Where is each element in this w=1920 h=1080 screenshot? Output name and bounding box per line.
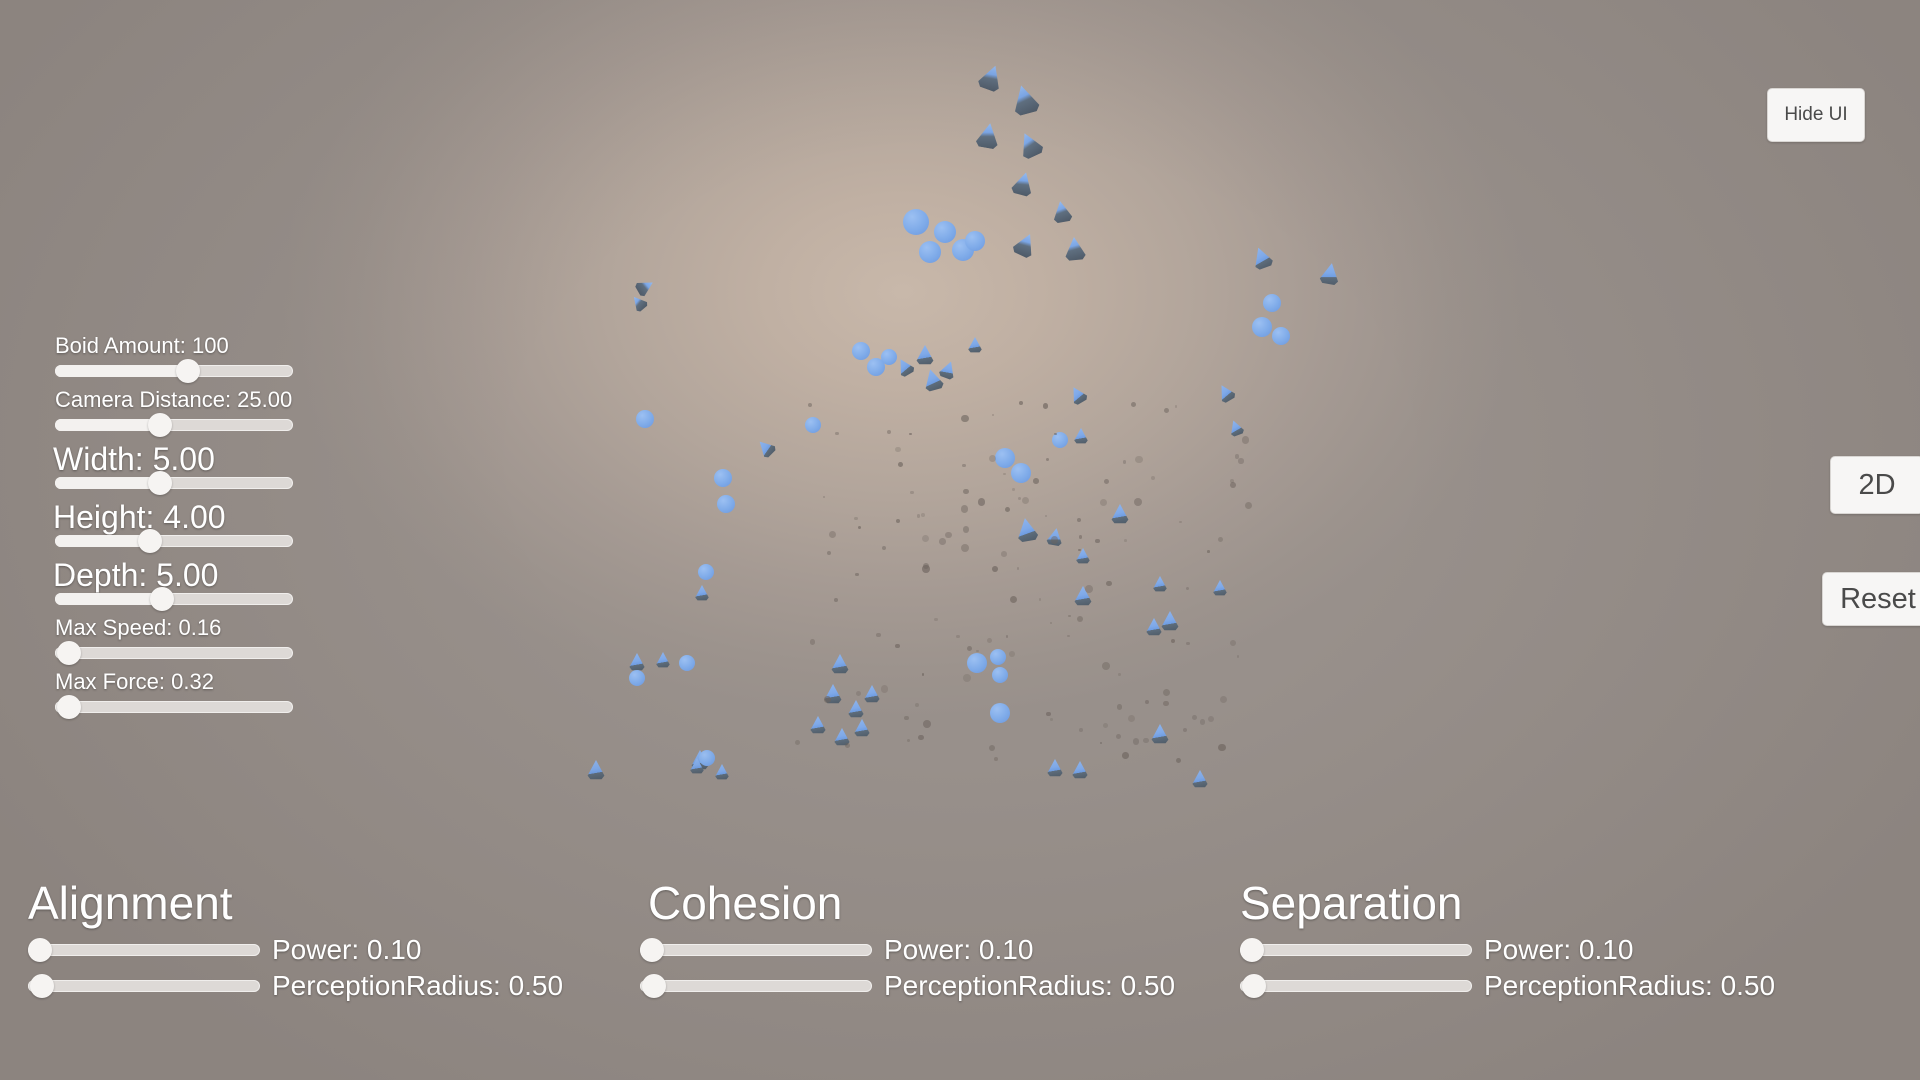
depth-particle xyxy=(962,464,965,467)
label-boid-amount: Boid Amount: 100 xyxy=(55,335,300,357)
rule-group-alignment: AlignmentPower: 0.10PerceptionRadius: 0.… xyxy=(28,880,563,1008)
slider-thumb-max-speed[interactable] xyxy=(57,641,81,665)
depth-particle xyxy=(956,635,959,638)
depth-particle xyxy=(963,489,969,495)
depth-particle xyxy=(922,673,925,676)
boid xyxy=(689,758,705,774)
depth-particle xyxy=(963,526,970,533)
depth-particle xyxy=(1192,715,1197,720)
boid-body xyxy=(679,655,695,671)
depth-particle xyxy=(1050,622,1053,625)
boid xyxy=(992,667,1008,683)
boid-body xyxy=(965,231,985,251)
hide-ui-button[interactable]: Hide UI xyxy=(1767,88,1865,142)
boid xyxy=(1226,418,1247,439)
boid xyxy=(694,585,710,601)
boid-body xyxy=(717,495,735,513)
depth-particle xyxy=(1242,436,1249,443)
label-height: Height: 4.00 xyxy=(53,501,300,533)
boid-body xyxy=(698,564,714,580)
depth-particle xyxy=(835,432,838,435)
depth-particle xyxy=(1100,499,1107,506)
depth-particle xyxy=(1218,744,1226,752)
depth-particle xyxy=(1045,515,1047,517)
boid-body xyxy=(1160,611,1180,631)
boid-body xyxy=(1214,381,1239,406)
boid-body xyxy=(1013,128,1048,163)
boid xyxy=(1145,618,1163,636)
slider-separation-power[interactable] xyxy=(1240,944,1472,956)
depth-particle xyxy=(967,646,972,651)
depth-particle xyxy=(961,544,969,552)
slider-fill xyxy=(55,593,162,605)
boid-body xyxy=(967,653,987,673)
depth-particle xyxy=(882,546,886,550)
depth-particle xyxy=(987,638,992,643)
slider-cohesion-power[interactable] xyxy=(640,944,872,956)
boid xyxy=(1046,759,1064,777)
boid-body xyxy=(1062,236,1088,262)
slider-thumb-cohesion-perception[interactable] xyxy=(642,974,666,998)
depth-particle xyxy=(1046,712,1050,716)
depth-particle xyxy=(1123,460,1127,464)
depth-particle xyxy=(1017,567,1020,570)
boid-body xyxy=(967,337,983,353)
boid xyxy=(853,719,871,737)
depth-particle xyxy=(834,598,838,602)
slider-max-speed[interactable] xyxy=(55,647,293,659)
boid-body xyxy=(903,209,929,235)
depth-particle xyxy=(1179,521,1181,523)
label-max-force: Max Force: 0.32 xyxy=(55,671,300,693)
slider-thumb-height[interactable] xyxy=(138,529,162,553)
rule-row-alignment-power: Power: 0.10 xyxy=(28,936,563,964)
depth-particle xyxy=(895,447,901,453)
boid-body xyxy=(629,670,645,686)
label-width: Width: 5.00 xyxy=(53,443,300,475)
control-row-height: Height: 4.00 xyxy=(55,501,300,547)
depth-particle xyxy=(887,430,891,434)
depth-particle xyxy=(855,573,859,577)
boid xyxy=(1191,770,1209,788)
depth-particle xyxy=(1134,498,1142,506)
boid-body xyxy=(1073,428,1089,444)
depth-particle xyxy=(1012,488,1015,491)
depth-particle xyxy=(1095,539,1099,543)
depth-particle xyxy=(1067,635,1070,638)
depth-particle xyxy=(1220,696,1227,703)
boid-body xyxy=(990,649,1006,665)
depth-particle xyxy=(876,633,881,638)
label-max-speed: Max Speed: 0.16 xyxy=(55,617,300,639)
boid xyxy=(863,685,881,703)
depth-particle xyxy=(1122,752,1129,759)
depth-particle xyxy=(898,462,903,467)
depth-particle xyxy=(978,498,985,505)
boid xyxy=(1152,576,1168,592)
boid xyxy=(967,653,987,673)
depth-particle xyxy=(1077,518,1081,522)
control-row-boid-amount: Boid Amount: 100 xyxy=(55,335,300,377)
slider-height[interactable] xyxy=(55,535,293,547)
boid-body xyxy=(1248,244,1276,272)
depth-particle xyxy=(1230,482,1236,488)
depth-particle xyxy=(1006,635,1008,637)
rule-group-separation: SeparationPower: 0.10PerceptionRadius: 0… xyxy=(1240,880,1775,1008)
depth-particle xyxy=(994,757,998,761)
boid xyxy=(809,716,827,734)
slider-width[interactable] xyxy=(55,477,293,489)
depth-particle xyxy=(1176,758,1181,763)
boid xyxy=(1272,327,1290,345)
boid xyxy=(629,670,645,686)
boid-body xyxy=(1191,770,1209,788)
boid xyxy=(1066,383,1091,408)
boid-body xyxy=(1272,327,1290,345)
depth-particle xyxy=(961,505,968,512)
depth-particle xyxy=(1200,719,1205,724)
boid xyxy=(1150,724,1170,744)
depth-particle xyxy=(1143,738,1149,744)
depth-particle xyxy=(1133,738,1140,745)
depth-particle xyxy=(1100,742,1102,744)
boid-body xyxy=(805,417,821,433)
reset-button[interactable]: Reset xyxy=(1822,572,1920,626)
boid xyxy=(1071,761,1089,779)
depth-particle xyxy=(922,565,930,573)
depth-particle xyxy=(1163,689,1170,696)
rule-group-cohesion: CohesionPower: 0.10PerceptionRadius: 0.5… xyxy=(640,880,1175,1008)
boid-body xyxy=(830,654,850,674)
depth-particle xyxy=(881,685,888,692)
label-alignment-power: Power: 0.10 xyxy=(272,936,421,964)
boid-body xyxy=(694,585,710,601)
boid xyxy=(1009,229,1041,261)
slider-fill xyxy=(55,365,188,377)
depth-particle xyxy=(854,517,857,520)
rule-row-alignment-perception: PerceptionRadius: 0.50 xyxy=(28,972,563,1000)
depth-particle xyxy=(1163,701,1168,706)
depth-particle xyxy=(923,720,931,728)
boid xyxy=(714,469,732,487)
boid xyxy=(717,495,735,513)
label-alignment-perception: PerceptionRadius: 0.50 xyxy=(272,972,563,1000)
boid-body xyxy=(586,760,606,780)
depth-particle xyxy=(907,739,910,742)
boid-body xyxy=(1263,294,1281,312)
hide-ui-button-label: Hide UI xyxy=(1784,104,1847,126)
control-row-camera-distance: Camera Distance: 25.00 xyxy=(55,389,300,431)
control-row-max-speed: Max Speed: 0.16 xyxy=(55,617,300,659)
boid-body xyxy=(853,719,871,737)
rule-title-alignment: Alignment xyxy=(28,880,563,926)
boid-body xyxy=(1011,463,1031,483)
slider-thumb-separation-perception[interactable] xyxy=(1242,974,1266,998)
depth-particle xyxy=(1079,535,1082,538)
boid-body xyxy=(1152,576,1168,592)
depth-particle xyxy=(976,650,979,653)
depth-particle xyxy=(1009,651,1015,657)
depth-particle xyxy=(939,538,946,545)
boid-body xyxy=(1150,724,1170,744)
boid xyxy=(1212,580,1228,596)
boid-body xyxy=(1212,580,1228,596)
depth-particle xyxy=(1245,502,1253,510)
slider-depth[interactable] xyxy=(55,593,293,605)
boid-body xyxy=(753,435,778,460)
slider-alignment-perception[interactable] xyxy=(28,980,260,992)
depth-particle xyxy=(1128,715,1135,722)
depth-particle xyxy=(992,566,998,572)
depth-particle xyxy=(808,403,812,407)
rule-row-cohesion-perception: PerceptionRadius: 0.50 xyxy=(640,972,1175,1000)
dimension-toggle-label: 2D xyxy=(1858,469,1895,502)
depth-particle xyxy=(824,696,831,703)
depth-particle xyxy=(1050,718,1053,721)
boid-body xyxy=(915,345,935,365)
depth-particle xyxy=(1145,700,1149,704)
slider-thumb-cohesion-power[interactable] xyxy=(640,938,664,962)
boid xyxy=(1160,611,1180,631)
depth-particle xyxy=(1077,616,1083,622)
boid-body xyxy=(1013,516,1041,544)
depth-particle xyxy=(921,513,925,517)
boid-body xyxy=(714,764,730,780)
boid xyxy=(1049,199,1074,224)
depth-particle xyxy=(1068,615,1070,617)
depth-particle xyxy=(918,735,924,741)
depth-particle xyxy=(1022,497,1030,505)
boid xyxy=(1110,504,1130,524)
boid-body xyxy=(1066,383,1091,408)
boid-body xyxy=(1226,418,1247,439)
depth-particle xyxy=(989,455,996,462)
boid xyxy=(1317,261,1342,286)
boid xyxy=(915,345,935,365)
boid-body xyxy=(689,758,705,774)
depth-particle xyxy=(1208,716,1215,723)
depth-particle xyxy=(829,531,836,538)
depth-particle xyxy=(989,745,995,751)
boid xyxy=(1252,317,1272,337)
depth-particle xyxy=(1043,403,1048,408)
boid xyxy=(973,121,1003,151)
depth-particle xyxy=(1183,728,1188,733)
slider-thumb-camera-distance[interactable] xyxy=(148,413,172,437)
control-row-width: Width: 5.00 xyxy=(55,443,300,489)
boid-body xyxy=(973,121,1003,151)
slider-fill xyxy=(55,419,160,431)
boid-body xyxy=(1046,759,1064,777)
slider-fill xyxy=(55,535,150,547)
boid xyxy=(990,703,1010,723)
boid-body xyxy=(1008,169,1037,198)
depth-particle xyxy=(910,491,913,494)
rule-row-separation-power: Power: 0.10 xyxy=(1240,936,1775,964)
depth-particle xyxy=(1135,456,1142,463)
slider-cohesion-perception[interactable] xyxy=(640,980,872,992)
boid xyxy=(1214,381,1239,406)
depth-particle xyxy=(945,532,951,538)
depth-particle xyxy=(1039,598,1042,601)
boid xyxy=(1062,236,1088,262)
reset-button-label: Reset xyxy=(1840,583,1916,616)
boid xyxy=(698,564,714,580)
depth-particle xyxy=(1103,723,1108,728)
boid-body xyxy=(990,703,1010,723)
label-depth: Depth: 5.00 xyxy=(53,559,300,591)
rules-panel: AlignmentPower: 0.10PerceptionRadius: 0.… xyxy=(0,880,1920,1080)
depth-particle xyxy=(963,674,971,682)
boid-body xyxy=(863,685,881,703)
depth-particle xyxy=(922,535,929,542)
depth-particle xyxy=(961,415,968,422)
boid xyxy=(1011,463,1031,483)
depth-particle xyxy=(1046,458,1049,461)
rule-row-separation-perception: PerceptionRadius: 0.50 xyxy=(1240,972,1775,1000)
label-separation-perception: PerceptionRadius: 0.50 xyxy=(1484,972,1775,1000)
boid-body xyxy=(1071,761,1089,779)
depth-particle xyxy=(895,644,899,648)
depth-particle xyxy=(1186,642,1190,646)
boid xyxy=(1007,82,1044,119)
depth-particle xyxy=(1085,585,1093,593)
depth-particle xyxy=(856,691,861,696)
boid-body xyxy=(628,653,646,671)
depth-particle xyxy=(896,519,900,523)
boid-body xyxy=(1145,618,1163,636)
depth-particle xyxy=(1019,401,1023,405)
depth-particle xyxy=(1238,458,1243,463)
slider-camera-distance[interactable] xyxy=(55,419,293,431)
depth-particle xyxy=(810,639,815,644)
depth-particle xyxy=(1118,673,1121,676)
dimension-toggle-button[interactable]: 2D xyxy=(1830,456,1920,514)
boid xyxy=(586,760,606,780)
depth-particle xyxy=(1175,405,1178,408)
boid xyxy=(974,61,1007,94)
label-separation-power: Power: 0.10 xyxy=(1484,936,1633,964)
depth-particle xyxy=(795,740,800,745)
depth-particle xyxy=(1051,536,1059,544)
depth-particle xyxy=(1230,640,1236,646)
boid-body xyxy=(809,716,827,734)
boid-body xyxy=(636,410,654,428)
slider-boid-amount[interactable] xyxy=(55,365,293,377)
boid-body xyxy=(1252,317,1272,337)
boid xyxy=(1013,516,1041,544)
label-cohesion-perception: PerceptionRadius: 0.50 xyxy=(884,972,1175,1000)
depth-particle xyxy=(1207,550,1210,553)
boid xyxy=(1263,294,1281,312)
boid-body xyxy=(1049,199,1074,224)
slider-thumb-depth[interactable] xyxy=(150,587,174,611)
depth-particle xyxy=(1005,507,1011,513)
depth-particle xyxy=(845,743,850,748)
slider-thumb-max-force[interactable] xyxy=(57,695,81,719)
depth-particle xyxy=(1151,476,1155,480)
boid-body xyxy=(992,667,1008,683)
boid xyxy=(1008,169,1037,198)
boid-body xyxy=(714,469,732,487)
boid xyxy=(628,653,646,671)
depth-particle xyxy=(1106,581,1112,587)
depth-particle xyxy=(934,618,937,621)
left-control-panel: Boid Amount: 100Camera Distance: 25.00Wi… xyxy=(55,335,300,725)
depth-particle xyxy=(1010,596,1017,603)
depth-particle xyxy=(1104,479,1109,484)
depth-particle xyxy=(909,433,912,436)
boid xyxy=(919,241,941,263)
rule-title-cohesion: Cohesion xyxy=(648,880,1175,926)
boid xyxy=(830,654,850,674)
boid-body xyxy=(655,652,671,668)
slider-alignment-power[interactable] xyxy=(28,944,260,956)
boid-body xyxy=(919,241,941,263)
slider-max-force[interactable] xyxy=(55,701,293,713)
boid-body xyxy=(1007,82,1044,119)
rule-row-cohesion-power: Power: 0.10 xyxy=(640,936,1175,964)
boid xyxy=(967,337,983,353)
depth-particle xyxy=(1018,497,1021,500)
boid-body xyxy=(1009,229,1041,261)
slider-fill xyxy=(55,477,160,489)
boid xyxy=(655,652,671,668)
depth-particle xyxy=(823,496,825,498)
depth-particle xyxy=(1218,537,1223,542)
label-cohesion-power: Power: 0.10 xyxy=(884,936,1033,964)
boid xyxy=(636,410,654,428)
depth-particle xyxy=(1237,655,1239,657)
depth-particle xyxy=(1131,402,1136,407)
depth-particle xyxy=(858,526,861,529)
depth-particle xyxy=(1102,662,1110,670)
depth-particle xyxy=(1117,704,1123,710)
depth-particle xyxy=(1054,433,1056,435)
depth-particle xyxy=(992,414,995,417)
boid xyxy=(1073,428,1089,444)
depth-particle xyxy=(1033,478,1039,484)
boid xyxy=(679,655,695,671)
depth-particle xyxy=(917,514,920,517)
slider-separation-perception[interactable] xyxy=(1240,980,1472,992)
slider-thumb-separation-power[interactable] xyxy=(1240,938,1264,962)
depth-particle xyxy=(904,716,908,720)
boid xyxy=(903,209,929,235)
boid xyxy=(805,417,821,433)
depth-particle xyxy=(1116,734,1121,739)
slider-thumb-alignment-perception[interactable] xyxy=(30,974,54,998)
boid xyxy=(714,764,730,780)
boid-body xyxy=(1110,504,1130,524)
slider-thumb-boid-amount[interactable] xyxy=(176,359,200,383)
depth-particle xyxy=(1124,539,1127,542)
depth-particle xyxy=(1186,587,1189,590)
depth-particle xyxy=(1164,408,1169,413)
slider-thumb-width[interactable] xyxy=(148,471,172,495)
depth-particle xyxy=(827,551,831,555)
control-row-max-force: Max Force: 0.32 xyxy=(55,671,300,713)
control-row-depth: Depth: 5.00 xyxy=(55,559,300,605)
depth-particle xyxy=(915,703,919,707)
boid xyxy=(753,435,778,460)
depth-particle xyxy=(1001,551,1007,557)
depth-particle xyxy=(1079,728,1083,732)
boid-body xyxy=(1317,261,1342,286)
slider-thumb-alignment-power[interactable] xyxy=(28,938,52,962)
boid xyxy=(990,649,1006,665)
label-camera-distance: Camera Distance: 25.00 xyxy=(55,389,300,411)
